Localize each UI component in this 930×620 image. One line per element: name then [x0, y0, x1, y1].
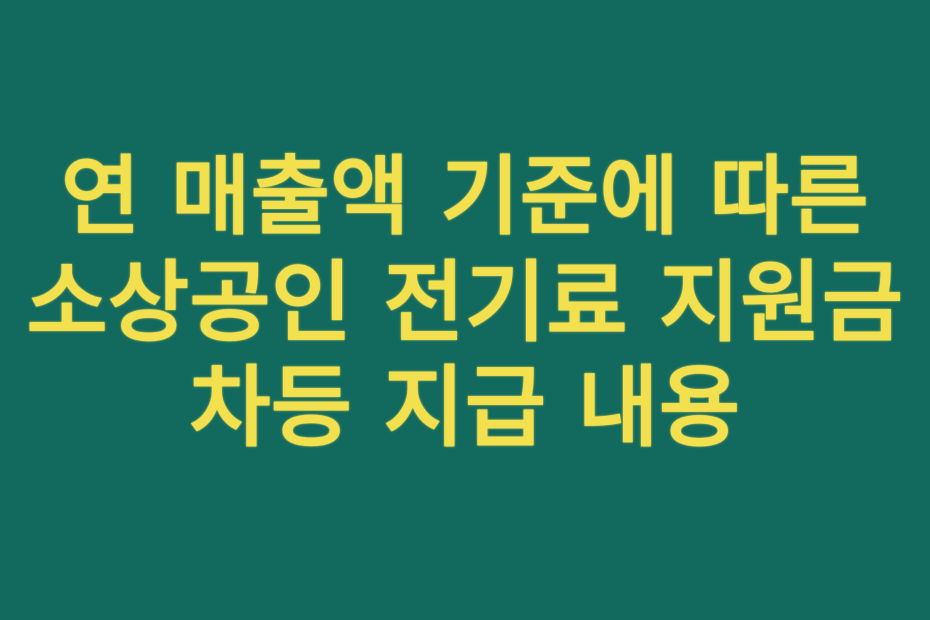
- title-card: 연 매출액 기준에 따른 소상공인 전기료 지원금 차등 지급 내용: [0, 0, 930, 620]
- headline-line-1: 연 매출액 기준에 따른: [18, 145, 912, 250]
- headline-line-3: 차등 지급 내용: [18, 355, 912, 460]
- headline-block: 연 매출액 기준에 따른 소상공인 전기료 지원금 차등 지급 내용: [0, 145, 930, 460]
- headline-line-2: 소상공인 전기료 지원금: [18, 250, 912, 355]
